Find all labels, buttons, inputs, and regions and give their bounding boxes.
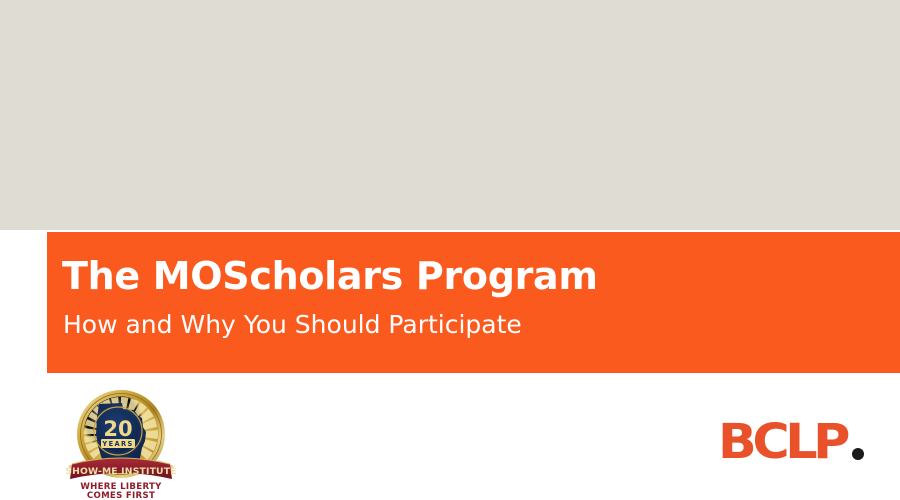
bclp-logo: BCLP [718,417,870,469]
image-placeholder-band [0,0,900,230]
bclp-period-dot [852,448,864,460]
tagline-line-2: COMES FIRST [87,491,155,500]
seal-badge-number: 20 [103,417,132,441]
show-me-institute-logo: 20 YEARS SHOW-ME INSTITUTE WHERE LIBERTY… [60,386,182,500]
ribbon-text: SHOW-ME INSTITUTE [65,466,176,477]
page-subtitle: How and Why You Should Participate [63,311,522,339]
presentation-slide: The MOScholars Program How and Why You S… [0,0,900,500]
title-banner: The MOScholars Program How and Why You S… [47,232,900,373]
seal-badge-word: YEARS [101,440,133,448]
page-title: The MOScholars Program [62,257,598,297]
bclp-wordmark: BCLP [718,417,849,469]
